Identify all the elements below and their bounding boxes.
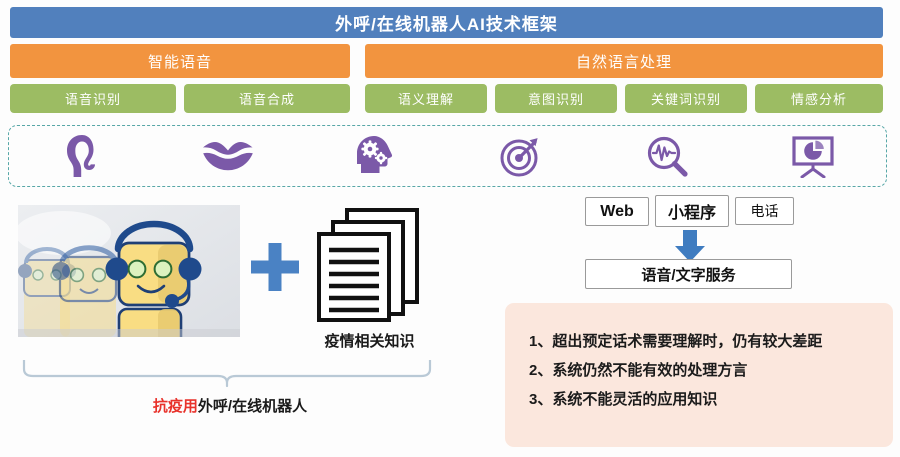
presentation-chart-icon xyxy=(789,134,837,178)
brace-decoration xyxy=(22,358,432,388)
icon-slot-head-gears xyxy=(301,134,447,178)
issue-text: 系统不能灵活的应用知识 xyxy=(552,391,717,408)
icon-slot-target xyxy=(448,134,594,178)
documents-icon xyxy=(313,206,423,324)
layer-green-1: 语音合成 xyxy=(184,84,350,113)
layer-green-3: 意图识别 xyxy=(495,84,617,113)
issue-number: 2、 xyxy=(529,356,552,385)
left-caption: 抗疫用外呼/在线机器人 xyxy=(20,395,440,416)
issue-item: 3、系统不能灵活的应用知识 xyxy=(529,385,883,414)
channel-box-web[interactable]: Web xyxy=(585,197,649,226)
layer-row-green: 语音识别语音合成语义理解意图识别关键词识别情感分析 xyxy=(10,84,883,113)
layer-orange-1: 自然语言处理 xyxy=(365,44,883,78)
lips-icon xyxy=(201,139,255,173)
layer-orange-0: 智能语音 xyxy=(10,44,350,78)
icon-slot-magnifier xyxy=(594,134,740,178)
issue-text: 超出预定话术需要理解时，仍有较大差距 xyxy=(552,333,822,350)
caption-highlight: 抗疫用 xyxy=(153,398,198,415)
caption-rest: 外呼/在线机器人 xyxy=(198,398,307,415)
layer-green-2: 语义理解 xyxy=(365,84,487,113)
issue-item: 1、超出预定话术需要理解时，仍有较大差距 xyxy=(529,327,883,356)
issue-number: 3、 xyxy=(529,385,552,414)
layer-green-5: 情感分析 xyxy=(755,84,883,113)
slide-canvas: 外呼/在线机器人AI技术框架 智能语音自然语言处理 语音识别语音合成语义理解意图… xyxy=(0,0,900,457)
documents-label: 疫情相关知识 xyxy=(302,330,437,351)
issue-text: 系统仍然不能有效的处理方言 xyxy=(552,362,747,379)
arrow-down-icon xyxy=(668,230,712,262)
icon-slot-ear xyxy=(9,134,155,178)
icon-slot-lips xyxy=(155,139,301,173)
head-gears-icon xyxy=(352,134,396,178)
layer-row-orange: 智能语音自然语言处理 xyxy=(10,44,883,78)
channel-box-miniprogram[interactable]: 小程序 xyxy=(655,195,729,227)
plus-icon xyxy=(249,241,301,293)
issue-number: 1、 xyxy=(529,327,552,356)
issue-item: 2、系统仍然不能有效的处理方言 xyxy=(529,356,883,385)
magnifier-waveform-icon xyxy=(645,134,689,178)
service-box: 语音/文字服务 xyxy=(585,259,792,289)
icon-strip xyxy=(8,125,887,187)
target-arrow-icon xyxy=(499,134,543,178)
ear-icon xyxy=(62,134,102,178)
page-title: 外呼/在线机器人AI技术框架 xyxy=(10,7,883,38)
robot-photo xyxy=(18,205,240,337)
channel-box-phone[interactable]: 电话 xyxy=(735,197,794,225)
layer-green-4: 关键词识别 xyxy=(625,84,747,113)
issues-panel: 1、超出预定话术需要理解时，仍有较大差距2、系统仍然不能有效的处理方言3、系统不… xyxy=(505,303,893,447)
icon-slot-presentation xyxy=(740,134,886,178)
layer-green-0: 语音识别 xyxy=(10,84,176,113)
issues-list: 1、超出预定话术需要理解时，仍有较大差距2、系统仍然不能有效的处理方言3、系统不… xyxy=(529,327,883,414)
